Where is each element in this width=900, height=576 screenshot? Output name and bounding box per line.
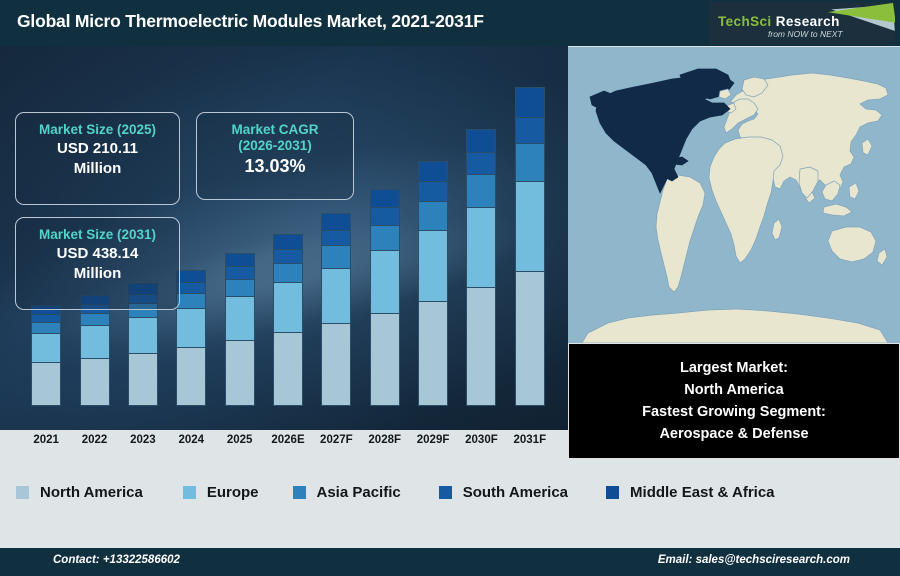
logo-text-techsci: TechSci: [718, 14, 776, 29]
bar-segment-europe[interactable]: [176, 308, 206, 347]
bar-segment-north-america[interactable]: [466, 287, 496, 406]
bar-segment-middle-east-africa[interactable]: [466, 129, 496, 152]
legend-swatch-icon: [439, 486, 452, 499]
bar-segment-south-america[interactable]: [225, 266, 255, 278]
bar-2029F[interactable]: [418, 161, 448, 406]
largest-market-label: Largest Market:: [680, 357, 788, 379]
bar-segment-north-america[interactable]: [370, 313, 400, 406]
stat-sublabel: (2026-2031): [197, 138, 353, 154]
bar-segment-middle-east-africa[interactable]: [515, 87, 545, 117]
infographic-root: Global Micro Thermoelectric Modules Mark…: [0, 0, 900, 576]
bar-segment-asia-pacific[interactable]: [225, 279, 255, 296]
world-map-svg: [568, 47, 900, 343]
bar-segment-asia-pacific[interactable]: [515, 143, 545, 181]
bar-segment-europe[interactable]: [370, 250, 400, 313]
bar-segment-asia-pacific[interactable]: [31, 322, 61, 333]
bar-2031F[interactable]: [515, 87, 545, 406]
fastest-segment-label: Fastest Growing Segment:: [642, 401, 826, 423]
footer-email: Email: sales@techsciresearch.com: [658, 554, 850, 566]
bar-segment-north-america[interactable]: [225, 340, 255, 406]
bar-segment-europe[interactable]: [515, 181, 545, 271]
stat-card-market-size-2025: Market Size (2025) USD 210.11 Million: [15, 112, 180, 205]
bar-segment-middle-east-africa[interactable]: [418, 161, 448, 181]
bar-segment-europe[interactable]: [31, 333, 61, 363]
legend-item-middle-east-africa[interactable]: Middle East & Africa: [606, 484, 774, 501]
bar-segment-europe[interactable]: [128, 317, 158, 353]
logo-wordmark: TechSci Research: [718, 14, 840, 29]
largest-market-value: North America: [684, 379, 783, 401]
bar-segment-south-america[interactable]: [370, 207, 400, 224]
fastest-segment-value: Aerospace & Defense: [659, 423, 808, 445]
bar-segment-middle-east-africa[interactable]: [225, 253, 255, 266]
bar-segment-europe[interactable]: [80, 325, 110, 358]
stat-value: USD 438.14: [16, 243, 179, 264]
legend-label: Asia Pacific: [317, 484, 401, 501]
bar-segment-south-america[interactable]: [176, 282, 206, 293]
bar-segment-middle-east-africa[interactable]: [176, 270, 206, 282]
bar-segment-asia-pacific[interactable]: [176, 293, 206, 308]
legend-label: Middle East & Africa: [630, 484, 774, 501]
x-axis-labels: 202120222023202420252026E2027F2028F2029F…: [0, 430, 568, 458]
bar-segment-middle-east-africa[interactable]: [321, 213, 351, 229]
techsci-research-logo: TechSci Research from NOW to NEXT: [710, 2, 895, 44]
bar-segment-south-america[interactable]: [515, 117, 545, 142]
bar-segment-asia-pacific[interactable]: [321, 245, 351, 268]
bar-segment-europe[interactable]: [418, 230, 448, 301]
bar-segment-europe[interactable]: [225, 296, 255, 340]
legend-label: North America: [40, 484, 143, 501]
bar-segment-europe[interactable]: [466, 207, 496, 287]
bar-segment-europe[interactable]: [321, 268, 351, 323]
highlights-box: Largest Market: North America Fastest Gr…: [569, 344, 899, 458]
stat-unit: Million: [16, 264, 179, 284]
bar-segment-north-america[interactable]: [515, 271, 545, 406]
bar-2025[interactable]: [225, 253, 255, 406]
legend-item-asia-pacific[interactable]: Asia Pacific: [293, 484, 401, 501]
bar-2026E[interactable]: [273, 234, 303, 406]
legend-swatch-icon: [606, 486, 619, 499]
bar-segment-asia-pacific[interactable]: [418, 201, 448, 230]
legend-swatch-icon: [183, 486, 196, 499]
bar-2028F[interactable]: [370, 189, 400, 406]
legend-item-europe[interactable]: Europe: [183, 484, 259, 501]
bar-segment-south-america[interactable]: [321, 230, 351, 246]
legend-swatch-icon: [16, 486, 29, 499]
bar-segment-north-america[interactable]: [31, 362, 61, 406]
footer-bar: Contact: +13322586602 Email: sales@techs…: [0, 548, 900, 576]
chart-panel: Market Size (2025) USD 210.11 Million Ma…: [0, 46, 568, 458]
bar-segment-south-america[interactable]: [273, 249, 303, 263]
bar-segment-middle-east-africa[interactable]: [370, 189, 400, 207]
bar-segment-south-america[interactable]: [466, 152, 496, 174]
stat-value: USD 210.11: [16, 138, 179, 159]
bar-2021[interactable]: [31, 305, 61, 406]
legend-label: Europe: [207, 484, 259, 501]
bar-segment-europe[interactable]: [273, 282, 303, 331]
legend-items-row: North AmericaEuropeAsia PacificSouth Ame…: [0, 478, 900, 506]
bar-segment-south-america[interactable]: [418, 181, 448, 201]
header-bar: Global Micro Thermoelectric Modules Mark…: [0, 0, 900, 46]
stat-value: 13.03%: [197, 154, 353, 178]
bar-2030F[interactable]: [466, 129, 496, 406]
logo-text-research: Research: [776, 14, 840, 29]
stat-label: Market Size (2025): [16, 121, 179, 138]
bar-segment-north-america[interactable]: [176, 347, 206, 406]
page-title: Global Micro Thermoelectric Modules Mark…: [17, 11, 484, 32]
footer-contact: Contact: +13322586602: [53, 554, 180, 566]
bar-segment-middle-east-africa[interactable]: [273, 234, 303, 249]
chart-legend: North AmericaEuropeAsia PacificSouth Ame…: [0, 458, 900, 548]
stat-card-market-size-2031: Market Size (2031) USD 438.14 Million: [15, 217, 180, 310]
bar-2027F[interactable]: [321, 213, 351, 406]
bar-segment-north-america[interactable]: [321, 323, 351, 406]
world-map: [568, 47, 900, 343]
legend-swatch-icon: [293, 486, 306, 499]
legend-label: South America: [463, 484, 568, 501]
x-tick-2031F: 2031F: [500, 434, 560, 446]
bar-segment-north-america[interactable]: [273, 332, 303, 406]
bar-segment-north-america[interactable]: [418, 301, 448, 406]
bar-segment-north-america[interactable]: [128, 353, 158, 406]
bar-2022[interactable]: [80, 295, 110, 406]
bar-segment-asia-pacific[interactable]: [80, 313, 110, 325]
bar-segment-south-america[interactable]: [31, 314, 61, 322]
bar-segment-asia-pacific[interactable]: [370, 225, 400, 250]
bar-segment-asia-pacific[interactable]: [273, 263, 303, 283]
legend-item-south-america[interactable]: South America: [439, 484, 568, 501]
stat-label: Market Size (2031): [16, 226, 179, 243]
stat-label: Market CAGR: [197, 121, 353, 138]
logo-tagline: from NOW to NEXT: [768, 29, 843, 39]
stat-card-market-cagr: Market CAGR (2026-2031) 13.03%: [196, 112, 354, 200]
stat-unit: Million: [16, 159, 179, 179]
bar-segment-asia-pacific[interactable]: [466, 174, 496, 207]
bar-segment-north-america[interactable]: [80, 358, 110, 406]
legend-item-north-america[interactable]: North America: [16, 484, 143, 501]
bar-2024[interactable]: [176, 270, 206, 406]
